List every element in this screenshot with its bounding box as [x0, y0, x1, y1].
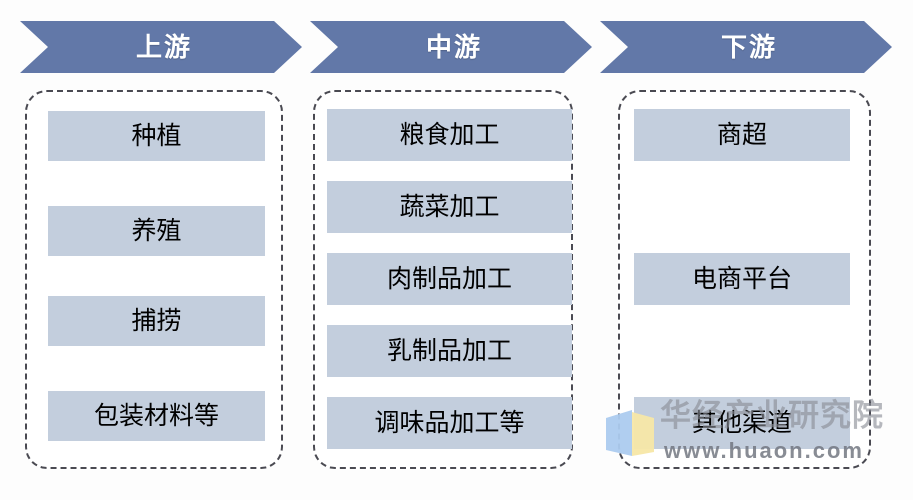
stage-column-downstream: 商超 电商平台 其他渠道	[618, 90, 871, 469]
stage-items-upstream: 种植 养殖 捕捞 包装材料等	[27, 92, 281, 467]
item-label-midstream-0: 粮食加工	[399, 123, 499, 148]
item-label-midstream-2: 肉制品加工	[387, 267, 512, 292]
stage-column-midstream: 粮食加工 蔬菜加工 肉制品加工 乳制品加工 调味品加工等	[313, 90, 573, 469]
stage-header-downstream[interactable]: 下游	[600, 21, 892, 73]
stage-header-upstream[interactable]: 上游	[20, 21, 302, 73]
stage-column-upstream: 种植 养殖 捕捞 包装材料等	[25, 90, 283, 469]
item-label-upstream-2: 捕捞	[131, 309, 181, 334]
item-label-upstream-0: 种植	[131, 124, 181, 149]
stage-items-midstream: 粮食加工 蔬菜加工 肉制品加工 乳制品加工 调味品加工等	[315, 92, 571, 467]
item-label-downstream-0: 商超	[717, 123, 767, 148]
item-box-upstream-1[interactable]: 养殖	[48, 206, 265, 256]
item-label-upstream-3: 包装材料等	[94, 404, 219, 429]
item-label-downstream-1: 电商平台	[692, 267, 792, 292]
stage-header-midstream[interactable]: 中游	[310, 21, 592, 73]
item-box-upstream-3[interactable]: 包装材料等	[48, 391, 265, 441]
stage-items-downstream: 商超 电商平台 其他渠道	[620, 92, 869, 467]
item-label-midstream-1: 蔬菜加工	[399, 195, 499, 220]
item-box-midstream-0[interactable]: 粮食加工	[327, 109, 572, 161]
stage-header-label-downstream: 下游	[715, 34, 777, 60]
stage-header-label-midstream: 中游	[420, 34, 482, 60]
item-label-downstream-2: 其他渠道	[692, 411, 792, 436]
item-box-downstream-1[interactable]: 电商平台	[634, 253, 850, 305]
item-label-midstream-4: 调味品加工等	[374, 411, 524, 436]
item-box-upstream-2[interactable]: 捕捞	[48, 296, 265, 346]
diagram-canvas: 上游 中游 下游 种植 养殖 捕捞 包装材料等	[0, 0, 913, 500]
item-label-midstream-3: 乳制品加工	[387, 339, 512, 364]
stage-header-label-upstream: 上游	[130, 34, 192, 60]
item-box-downstream-2[interactable]: 其他渠道	[634, 397, 850, 449]
item-box-midstream-4[interactable]: 调味品加工等	[327, 397, 572, 449]
item-box-downstream-0[interactable]: 商超	[634, 109, 850, 161]
item-box-midstream-2[interactable]: 肉制品加工	[327, 253, 572, 305]
item-label-upstream-1: 养殖	[131, 219, 181, 244]
stage-header-row: 上游 中游 下游	[0, 0, 913, 90]
item-box-upstream-0[interactable]: 种植	[48, 111, 265, 161]
item-box-midstream-1[interactable]: 蔬菜加工	[327, 181, 572, 233]
item-box-midstream-3[interactable]: 乳制品加工	[327, 325, 572, 377]
